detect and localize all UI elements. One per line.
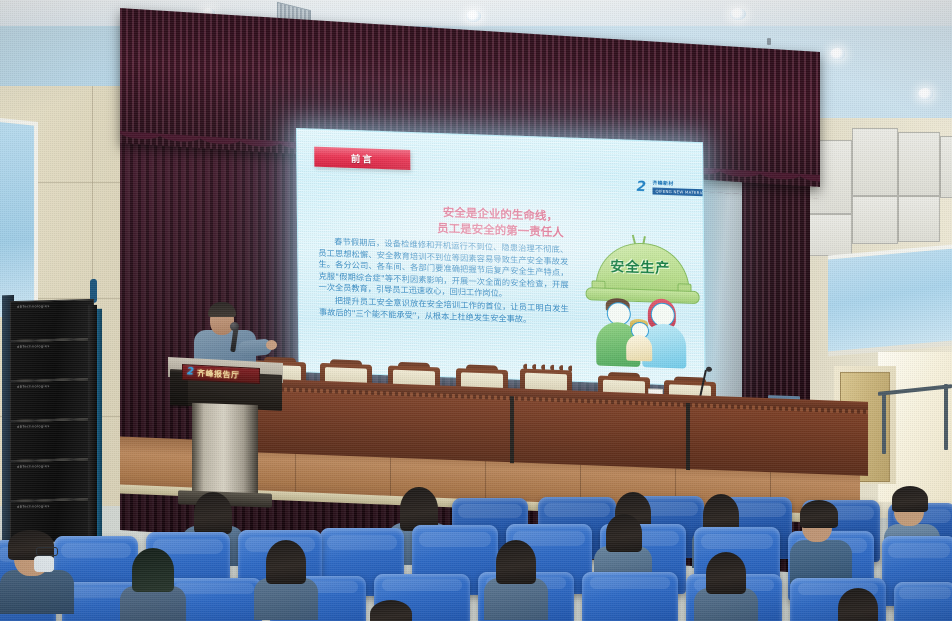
slide-body-text: 春节假期后，设备检维修和开机运行不到位、隐患治理不彻底、员工思想松懈、安全教育培… xyxy=(318,236,569,328)
speaker-cabinet: dBTechnologies xyxy=(10,459,94,501)
presentation-slide: 前言 2 齐峰新材 QIFENG NEW MATERIAL 安全是企业的生命线，… xyxy=(296,128,706,386)
audience-hair xyxy=(800,500,838,528)
audience-hair xyxy=(266,540,306,584)
audience-member xyxy=(360,600,422,621)
auditorium-photo-scene: 前言 2 齐峰新材 QIFENG NEW MATERIAL 安全是企业的生命线，… xyxy=(0,0,952,621)
audience-member xyxy=(484,540,548,614)
audience-hair xyxy=(132,548,174,592)
ceiling-downlight xyxy=(466,10,481,22)
audience-member xyxy=(694,552,758,621)
wall-panel xyxy=(806,214,852,256)
auditorium-seat[interactable] xyxy=(894,582,952,621)
speaker-cabinet: dBTechnologies xyxy=(10,299,94,341)
ceiling-downlight xyxy=(730,8,746,20)
audience-hair xyxy=(194,492,232,534)
wall-panel xyxy=(940,136,952,198)
audience-hair xyxy=(496,540,536,584)
audience-hair xyxy=(892,486,928,512)
handrail-post xyxy=(944,384,948,450)
right-window-panel xyxy=(828,244,952,356)
ceiling-downlight xyxy=(830,48,845,60)
slide-title-banner: 前言 xyxy=(314,147,410,170)
audience-shoulders xyxy=(254,578,318,620)
audience-hair xyxy=(838,588,878,621)
wall-panel xyxy=(898,196,940,242)
projection-screen: 前言 2 齐峰新材 QIFENG NEW MATERIAL 安全是企业的生命线，… xyxy=(296,128,704,384)
table-seam xyxy=(510,396,514,463)
auditorium-seat[interactable] xyxy=(582,572,678,621)
helmet-text: 安全生产 xyxy=(581,255,699,279)
presenter-hair xyxy=(208,302,236,317)
audience-hair xyxy=(370,600,412,621)
sprinkler-head xyxy=(767,38,771,45)
audience-member xyxy=(120,548,186,621)
audience-member xyxy=(254,540,318,614)
slide-paragraph-1: 春节假期后，设备检维修和开机运行不到位、隐患治理不彻底、员工思想松懈、安全教育培… xyxy=(318,236,569,303)
handrail-post xyxy=(882,392,886,454)
audience-member xyxy=(594,514,652,578)
audience-hair xyxy=(706,552,746,594)
face-mask-icon xyxy=(34,556,54,572)
wall-panel xyxy=(852,196,898,244)
logo-mark-icon: 2 xyxy=(636,180,646,194)
ceiling-downlight xyxy=(918,88,933,100)
speaker-cabinet: dBTechnologies xyxy=(10,339,94,381)
audience-member xyxy=(0,530,74,606)
line-array-speaker-stack: dBTechnologies dBTechnologies dBTechnolo… xyxy=(10,299,96,543)
speaker-side-panel xyxy=(88,305,97,537)
podium-column xyxy=(192,403,258,499)
child-body-icon xyxy=(626,335,652,362)
eyeglasses-icon xyxy=(36,547,58,556)
logo-name-en: QIFENG NEW MATERIAL xyxy=(652,187,705,196)
audience-shoulders xyxy=(0,570,74,614)
slide-title-text: 前言 xyxy=(314,150,410,167)
wall-panel xyxy=(852,128,898,196)
audience-member xyxy=(828,588,890,621)
logo-name-cn: 齐峰新材 xyxy=(652,179,673,187)
left-window-panel xyxy=(0,118,38,321)
family-illustration xyxy=(592,297,693,369)
wall-panel xyxy=(898,132,940,196)
audience-shoulders xyxy=(484,578,548,620)
speaker-cabinet: dBTechnologies xyxy=(10,419,94,461)
presenter-hand xyxy=(266,340,277,350)
audience-member xyxy=(790,500,852,578)
podium-logo-icon: 2 xyxy=(187,367,194,377)
microphone-capsule-icon xyxy=(230,322,239,331)
table-microphone-head-icon xyxy=(706,367,712,372)
podium-venue-name: 齐峰报告厅 xyxy=(197,367,240,380)
table-seam xyxy=(686,403,690,470)
audience-hair xyxy=(606,514,642,552)
company-logo: 2 齐峰新材 QIFENG NEW MATERIAL xyxy=(636,179,692,201)
speaker-cabinet: dBTechnologies xyxy=(10,379,94,421)
safety-helmet-graphic: 安全生产 xyxy=(581,235,700,371)
